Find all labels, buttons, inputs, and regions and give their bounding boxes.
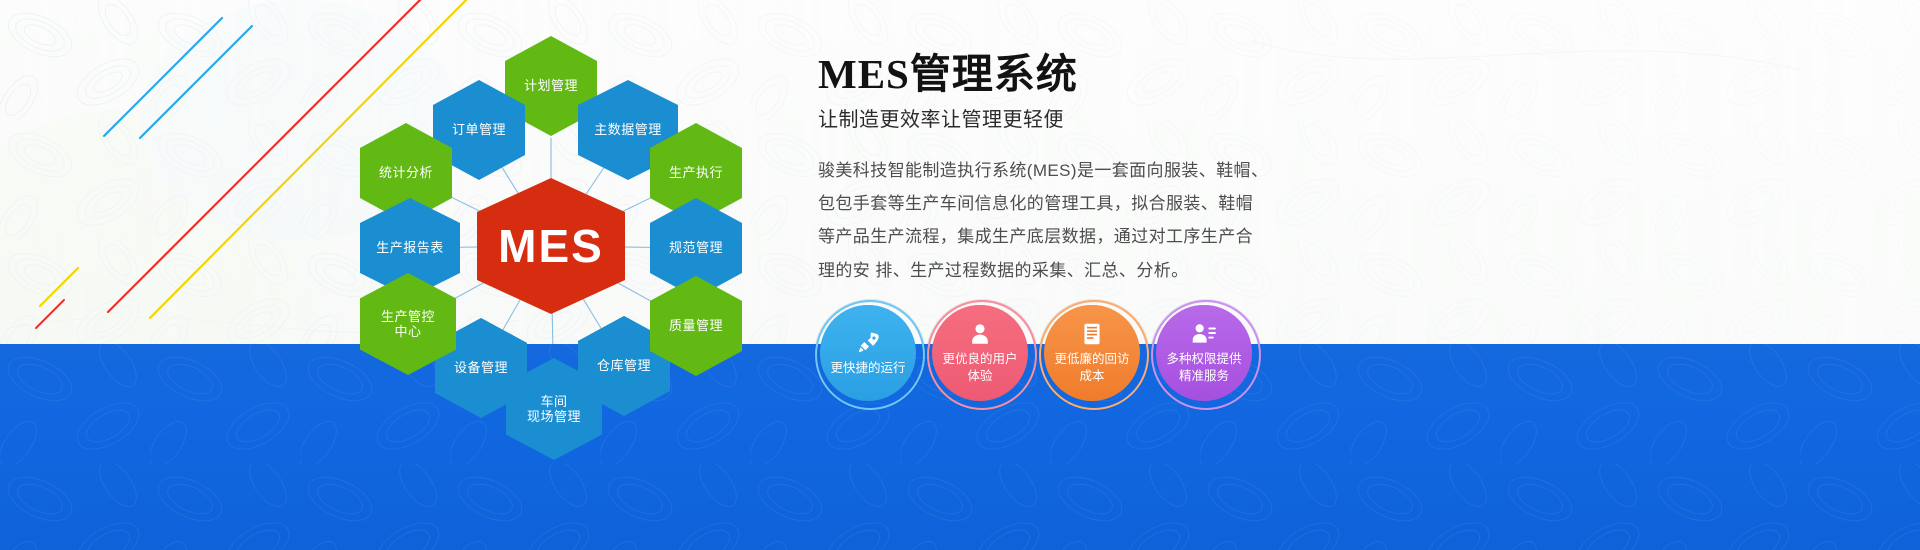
badge-lower-revisit-cost-overlay[interactable]: 更低廉的回访成本 — [1044, 305, 1140, 401]
hex-label: 仓库管理 — [593, 358, 655, 373]
hex-label: 生产管控中心 — [377, 309, 439, 340]
feature-badges-overlay: 更快捷的运行 更优良的用户体验 — [820, 305, 1252, 401]
page-subtitle: 让制造更效率让管理更轻便 — [818, 103, 1338, 132]
banner-content: MES管理系统 让制造更效率让管理更轻便 骏美科技智能制造执行系统(MES)是一… — [818, 52, 1338, 287]
badge-ring — [927, 300, 1037, 410]
badge-faster-operation-overlay[interactable]: 更快捷的运行 — [820, 305, 916, 401]
badge-multi-permission-service-overlay[interactable]: 多种权限提供精准服务 — [1156, 305, 1252, 401]
description-block: 骏美科技智能制造执行系统(MES)是一套面向服装、鞋帽、包包手套等生产车间信息化… — [818, 154, 1270, 287]
mes-hexagon-diagram-overlay: 设备管理 仓库管理 车间现场管理 生产管控中心 质量管理 — [330, 18, 790, 438]
hex-label: 设备管理 — [450, 360, 512, 375]
description-text: 骏美科技智能制造执行系统(MES)是一套面向服装、鞋帽、包包手套等生产车间信息化… — [818, 154, 1270, 287]
hex-label: 车间现场管理 — [523, 394, 585, 425]
badge-better-user-experience-overlay[interactable]: 更优良的用户体验 — [932, 305, 1028, 401]
hex-label: 质量管理 — [665, 318, 727, 333]
badge-ring — [815, 300, 925, 410]
page-title: MES管理系统 — [818, 52, 1338, 97]
badge-ring — [1151, 300, 1261, 410]
mes-banner: MES 计划管理 订单管理 主数据管理 统计分析 生产执行 生产报告表 规范管理… — [0, 0, 1920, 550]
badge-ring — [1039, 300, 1149, 410]
